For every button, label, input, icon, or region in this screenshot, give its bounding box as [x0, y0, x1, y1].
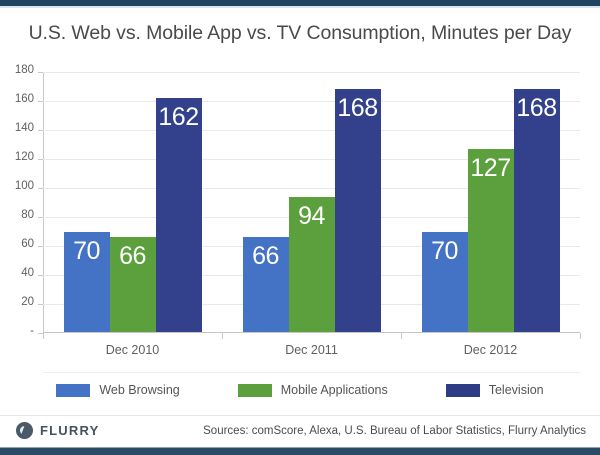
- bar-value-label: 66: [110, 241, 156, 271]
- baseline: [43, 332, 580, 333]
- x-axis-label: Dec 2010: [43, 343, 222, 357]
- legend-label: Web Browsing: [99, 383, 179, 397]
- bar[interactable]: 94: [289, 197, 335, 333]
- footer: FLURRY Sources: comScore, Alexa, U.S. Bu…: [0, 415, 600, 447]
- gridline: [43, 72, 580, 73]
- y-axis-tick-label: 40: [0, 267, 34, 279]
- y-axis-tick-label: 180: [0, 64, 34, 76]
- bar-value-label: 162: [156, 102, 202, 132]
- y-axis-tick-label: 140: [0, 122, 34, 134]
- legend-item[interactable]: Web Browsing: [56, 383, 179, 397]
- bar-value-label: 168: [514, 93, 560, 123]
- gridline: [43, 130, 580, 131]
- sources-note: Sources: comScore, Alexa, U.S. Bureau of…: [203, 425, 586, 437]
- x-axis-label: Dec 2012: [401, 343, 580, 357]
- legend-swatch: [446, 384, 480, 397]
- legend-item[interactable]: Television: [446, 383, 544, 397]
- bar[interactable]: 70: [422, 232, 468, 334]
- bar[interactable]: 168: [335, 89, 381, 333]
- x-axis-label: Dec 2011: [222, 343, 401, 357]
- x-axis-tick: [222, 333, 223, 339]
- legend-swatch: [238, 384, 272, 397]
- bar-value-label: 168: [335, 93, 381, 123]
- flurry-logo: FLURRY: [16, 422, 99, 439]
- y-axis-tick-label: 60: [0, 238, 34, 250]
- bar[interactable]: 66: [243, 237, 289, 333]
- chart-title: U.S. Web vs. Mobile App vs. TV Consumpti…: [0, 22, 600, 45]
- y-axis-tick-label: 120: [0, 151, 34, 163]
- flurry-circle-icon: [16, 422, 33, 439]
- x-axis-tick: [401, 333, 402, 339]
- footer-divider: [0, 415, 600, 416]
- bar-value-label: 70: [422, 236, 468, 266]
- legend-separator: [43, 372, 580, 373]
- y-axis-tick-label: -: [0, 325, 34, 337]
- y-axis-tick-label: 100: [0, 180, 34, 192]
- top-rule-shadow: [0, 6, 600, 8]
- legend-label: Mobile Applications: [281, 383, 388, 397]
- plot-area: 7066162669416870127168: [43, 72, 580, 333]
- bar[interactable]: 66: [110, 237, 156, 333]
- gridline: [43, 101, 580, 102]
- x-axis-tick: [580, 333, 581, 339]
- bar[interactable]: 127: [468, 149, 514, 333]
- y-axis-tick-label: 80: [0, 209, 34, 221]
- legend-item[interactable]: Mobile Applications: [238, 383, 388, 397]
- y-axis-tick-label: 160: [0, 93, 34, 105]
- flurry-wordmark: FLURRY: [40, 423, 99, 438]
- bar-value-label: 127: [468, 153, 514, 183]
- bottom-rule: [0, 448, 600, 455]
- chart-page: U.S. Web vs. Mobile App vs. TV Consumpti…: [0, 0, 600, 455]
- legend-label: Television: [489, 383, 544, 397]
- bar[interactable]: 162: [156, 98, 202, 333]
- legend: Web BrowsingMobile ApplicationsTelevisio…: [0, 383, 600, 397]
- bar-value-label: 70: [64, 236, 110, 266]
- bar-value-label: 66: [243, 241, 289, 271]
- bar[interactable]: 168: [514, 89, 560, 333]
- bar-value-label: 94: [289, 201, 335, 231]
- legend-swatch: [56, 384, 90, 397]
- x-axis-tick: [43, 333, 44, 339]
- y-axis-tick-label: 20: [0, 296, 34, 308]
- bar[interactable]: 70: [64, 232, 110, 334]
